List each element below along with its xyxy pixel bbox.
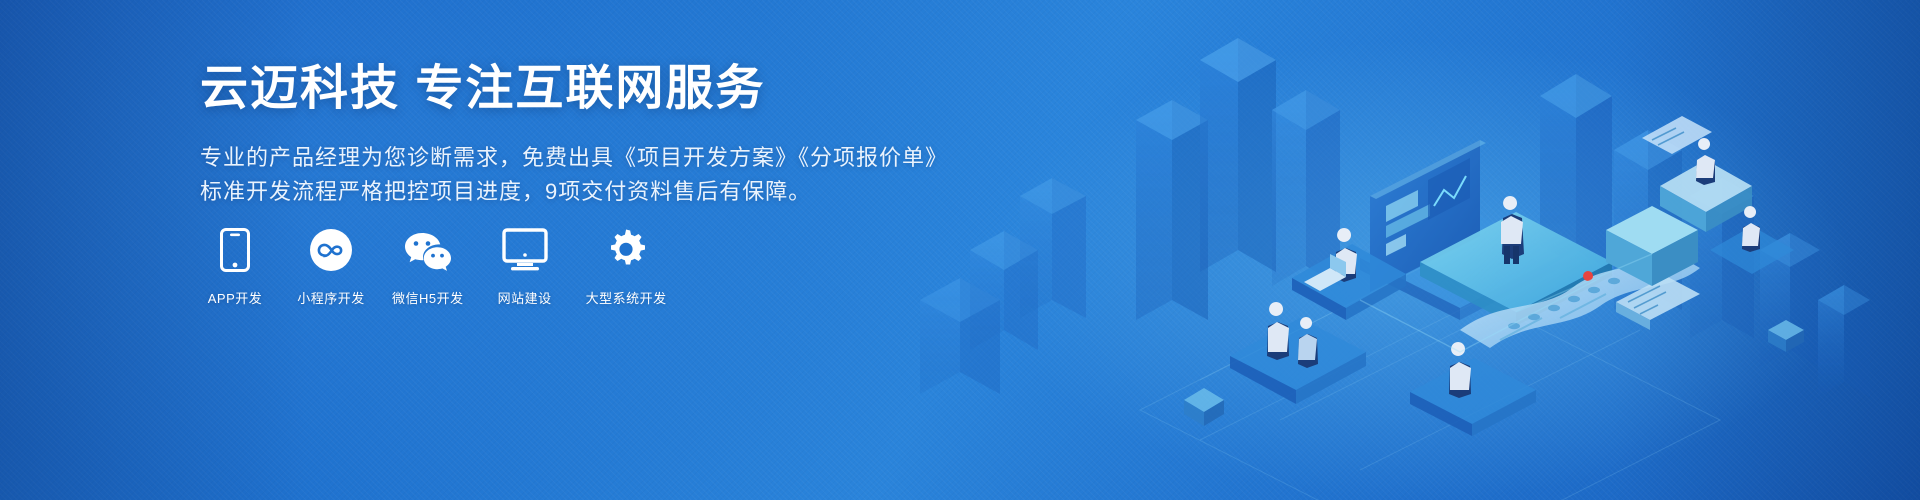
service-label-app: APP开发 <box>208 288 263 307</box>
gear-icon <box>604 228 648 272</box>
mini-program-icon <box>309 228 353 272</box>
service-item-large-system[interactable]: 大型系统开发 <box>586 228 667 307</box>
monitor-icon <box>502 228 548 272</box>
service-item-wechat-h5[interactable]: 微信H5开发 <box>392 228 464 307</box>
banner-subtitle-line-2: 标准开发流程严格把控项目进度，9项交付资料售后有保障。 <box>200 175 948 209</box>
banner-headline: 云迈科技 专注互联网服务 <box>200 62 948 117</box>
promo-banner: 云迈科技 专注互联网服务 专业的产品经理为您诊断需求，免费出具《项目开发方案》《… <box>0 0 1920 500</box>
service-item-website[interactable]: 网站建设 <box>490 228 560 307</box>
service-label-mini-program: 小程序开发 <box>297 288 365 307</box>
service-list: APP开发 小程序开发 微信 <box>200 228 667 307</box>
hero-illustration <box>900 0 1920 500</box>
service-item-app[interactable]: APP开发 <box>200 228 270 307</box>
service-item-mini-program[interactable]: 小程序开发 <box>296 228 366 307</box>
smartphone-icon <box>220 228 250 272</box>
service-label-wechat-h5: 微信H5开发 <box>392 288 464 307</box>
service-label-website: 网站建设 <box>498 288 552 307</box>
banner-copy: 云迈科技 专注互联网服务 专业的产品经理为您诊断需求，免费出具《项目开发方案》《… <box>200 62 948 209</box>
wechat-icon <box>403 228 453 272</box>
banner-subtitle: 专业的产品经理为您诊断需求，免费出具《项目开发方案》《分项报价单》 标准开发流程… <box>200 141 948 209</box>
service-label-large-system: 大型系统开发 <box>586 288 667 307</box>
banner-subtitle-line-1: 专业的产品经理为您诊断需求，免费出具《项目开发方案》《分项报价单》 <box>200 141 948 175</box>
